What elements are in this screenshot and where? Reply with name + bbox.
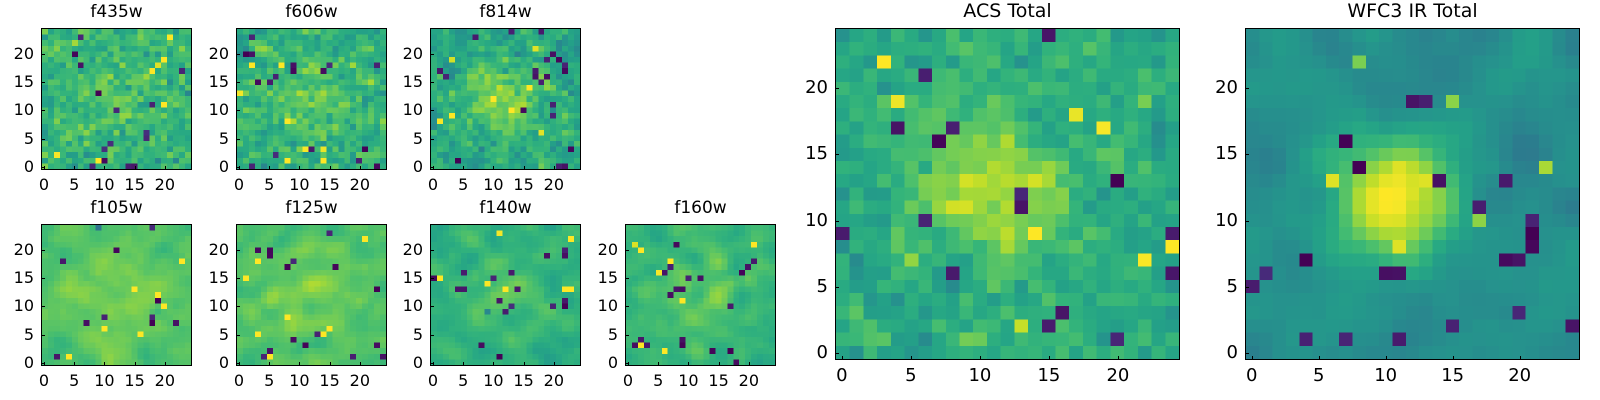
y-tick-mark-wfc3_ir_total-2 [1245, 221, 1249, 222]
panel-title-wfc3_ir_total: WFC3 IR Total [1245, 2, 1580, 21]
x-tick-label-wfc3_ir_total-0: 0 [1246, 367, 1257, 385]
y-tick-mark-wfc3_ir_total-3 [1245, 154, 1249, 155]
x-tick-mark-wfc3_ir_total-0 [1252, 356, 1253, 360]
y-tick-label-wfc3_ir_total-3: 15 [1183, 145, 1238, 163]
figure-canvas: f435w0510152005101520f606w05101520051015… [0, 0, 1600, 400]
heatmap-wfc3_ir_total [1245, 28, 1580, 360]
x-tick-label-wfc3_ir_total-1: 5 [1313, 367, 1324, 385]
x-tick-mark-wfc3_ir_total-1 [1319, 356, 1320, 360]
y-tick-label-wfc3_ir_total-4: 20 [1183, 79, 1238, 97]
y-tick-mark-wfc3_ir_total-0 [1245, 353, 1249, 354]
x-tick-mark-wfc3_ir_total-4 [1520, 356, 1521, 360]
y-tick-mark-wfc3_ir_total-1 [1245, 287, 1249, 288]
x-tick-label-wfc3_ir_total-3: 15 [1441, 367, 1464, 385]
y-tick-label-wfc3_ir_total-2: 10 [1183, 212, 1238, 230]
x-tick-label-wfc3_ir_total-4: 20 [1508, 367, 1531, 385]
x-tick-mark-wfc3_ir_total-3 [1453, 356, 1454, 360]
y-tick-label-wfc3_ir_total-0: 0 [1183, 344, 1238, 362]
x-tick-label-wfc3_ir_total-2: 10 [1374, 367, 1397, 385]
y-tick-mark-wfc3_ir_total-4 [1245, 88, 1249, 89]
heatmap-canvas-wfc3_ir_total [1246, 29, 1579, 359]
y-tick-label-wfc3_ir_total-1: 5 [1183, 278, 1238, 296]
x-tick-mark-wfc3_ir_total-2 [1386, 356, 1387, 360]
panel-wfc3_ir_total: WFC3 IR Total0510152005101520 [0, 0, 1600, 400]
